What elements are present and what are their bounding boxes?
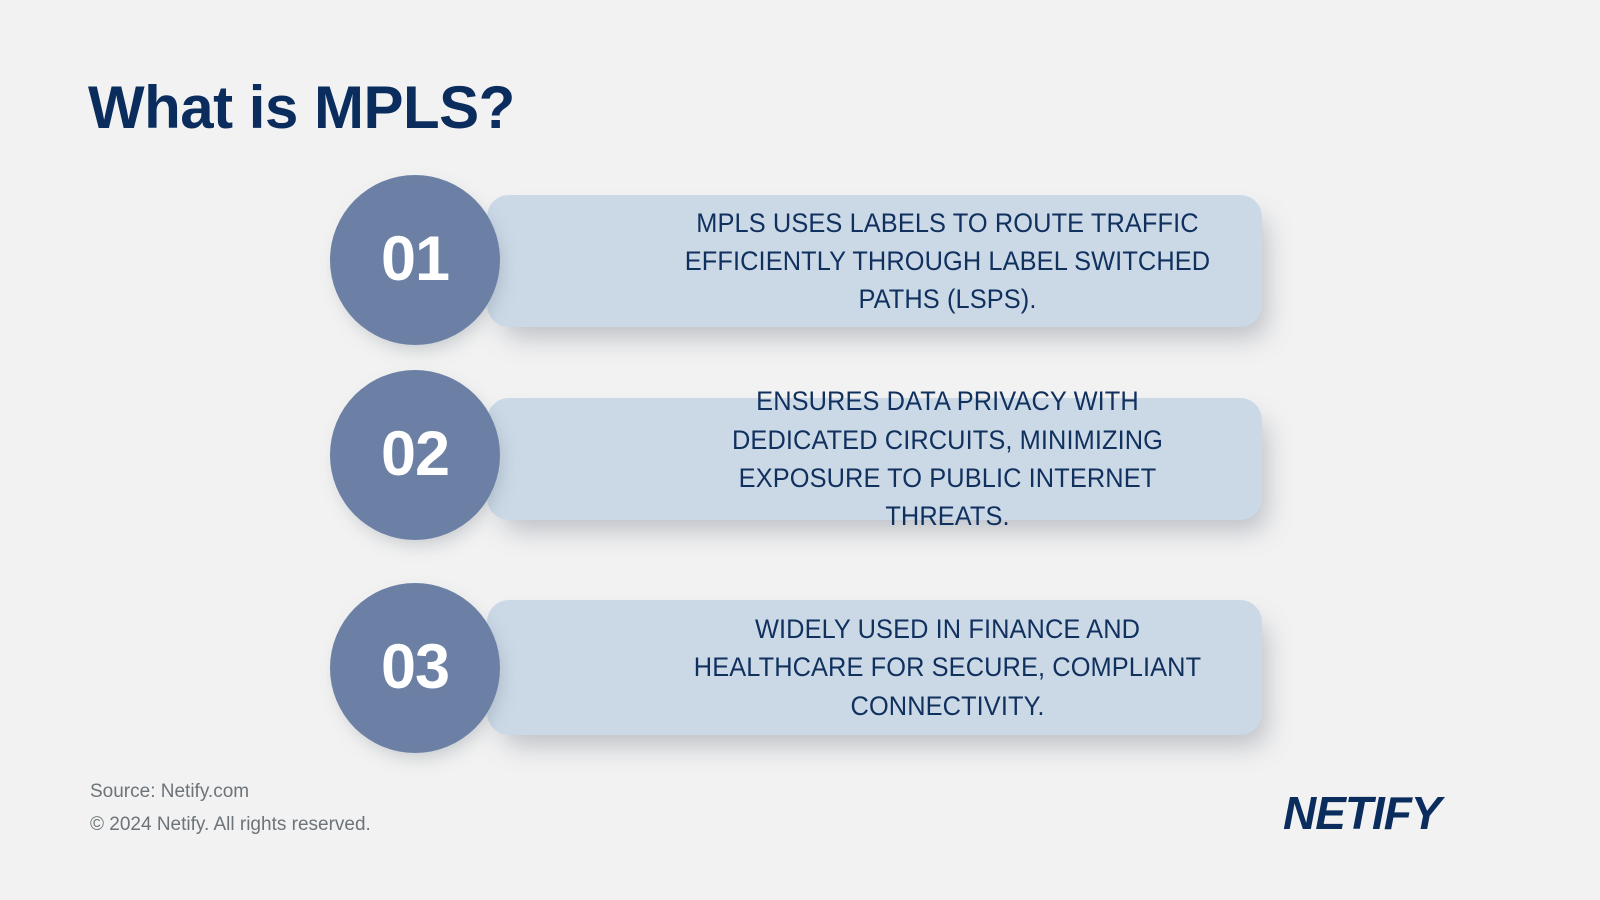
step-card-03: WIDELY USED IN FINANCE AND HEALTHCARE FO… xyxy=(487,600,1262,735)
infographic-canvas: What is MPLS? MPLS USES LABELS TO ROUTE … xyxy=(0,0,1600,900)
step-number-03: 03 xyxy=(381,636,449,699)
step-number-01: 01 xyxy=(381,228,449,291)
source-line: Source: Netify.com xyxy=(90,775,371,808)
step-badge-03: 03 xyxy=(330,583,500,753)
step-card-02: ENSURES DATA PRIVACY WITH DEDICATED CIRC… xyxy=(487,398,1262,520)
step-badge-02: 02 xyxy=(330,370,500,540)
step-card-01: MPLS USES LABELS TO ROUTE TRAFFIC EFFICI… xyxy=(487,195,1262,327)
footer-attribution: Source: Netify.com © 2024 Netify. All ri… xyxy=(90,775,371,842)
step-number-02: 02 xyxy=(381,423,449,486)
copyright-line: © 2024 Netify. All rights reserved. xyxy=(90,808,371,841)
step-text-03: WIDELY USED IN FINANCE AND HEALTHCARE FO… xyxy=(684,610,1211,725)
netify-logo: NETIFY xyxy=(1283,790,1441,836)
step-text-01: MPLS USES LABELS TO ROUTE TRAFFIC EFFICI… xyxy=(684,204,1211,319)
step-text-02: ENSURES DATA PRIVACY WITH DEDICATED CIRC… xyxy=(684,382,1211,535)
step-badge-01: 01 xyxy=(330,175,500,345)
steps-list: MPLS USES LABELS TO ROUTE TRAFFIC EFFICI… xyxy=(0,0,1600,900)
